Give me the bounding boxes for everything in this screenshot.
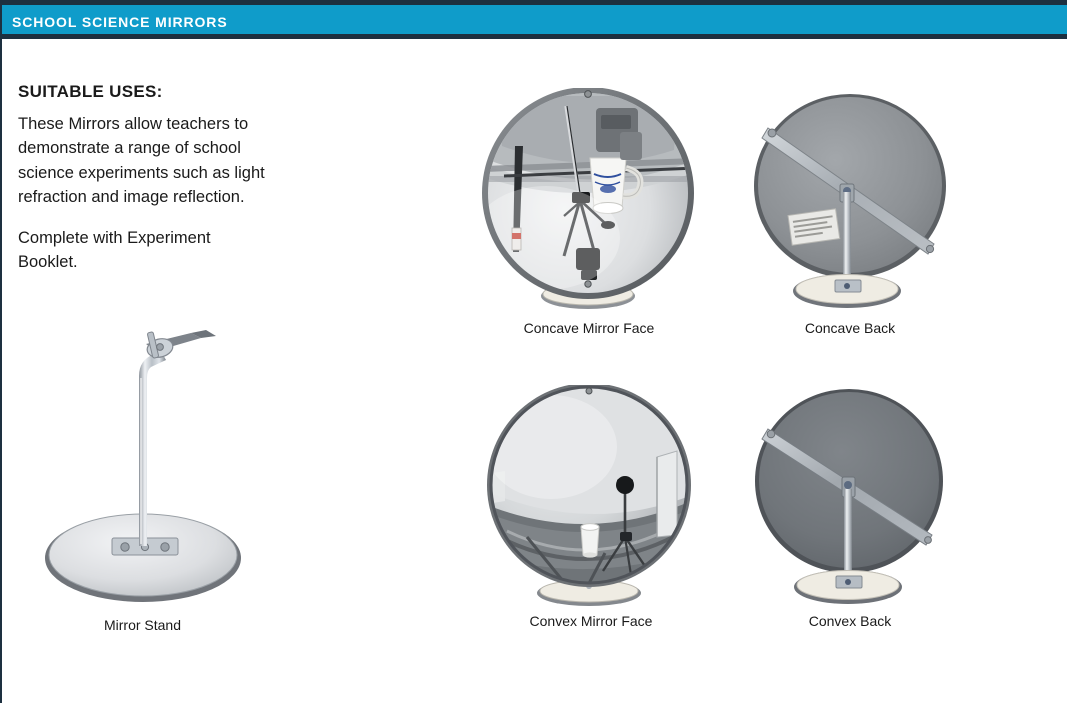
photo-convex-mirror-face bbox=[485, 385, 697, 607]
photo-convex-back bbox=[754, 385, 946, 607]
suitable-uses-paragraph-1: These Mirrors allow teachers to demonstr… bbox=[18, 112, 268, 210]
suitable-uses-paragraph-2: Complete with Experiment Booklet. bbox=[18, 226, 268, 275]
figure-convex-back: Convex Back bbox=[754, 385, 946, 647]
figure-convex-mirror-face: Convex Mirror Face bbox=[485, 385, 697, 647]
page-root: SCHOOL SCIENCE MIRRORS SUITABLE USES: Th… bbox=[0, 0, 1067, 703]
photo-concave-mirror-face bbox=[468, 88, 710, 313]
suitable-uses-block: SUITABLE USES: These Mirrors allow teach… bbox=[18, 82, 268, 274]
figure-mirror-stand: Mirror Stand bbox=[20, 320, 265, 650]
photo-concave-back bbox=[752, 88, 948, 313]
caption-convex-back: Convex Back bbox=[754, 613, 946, 629]
suitable-uses-heading: SUITABLE USES: bbox=[18, 82, 268, 102]
figure-concave-mirror-face: Concave Mirror Face bbox=[468, 88, 710, 350]
photo-mirror-stand bbox=[20, 320, 265, 610]
page-header-bar: SCHOOL SCIENCE MIRRORS bbox=[2, 0, 1067, 39]
page-title: SCHOOL SCIENCE MIRRORS bbox=[12, 14, 228, 30]
caption-convex-mirror-face: Convex Mirror Face bbox=[485, 613, 697, 629]
caption-concave-back: Concave Back bbox=[752, 320, 948, 336]
caption-concave-mirror-face: Concave Mirror Face bbox=[468, 320, 710, 336]
figure-concave-back: Concave Back bbox=[752, 88, 948, 350]
caption-mirror-stand: Mirror Stand bbox=[20, 617, 265, 633]
